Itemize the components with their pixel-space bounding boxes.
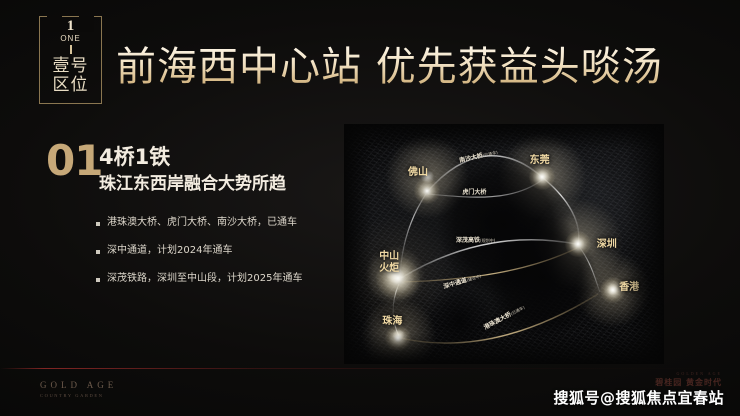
one-district-badge: 1 ONE 壹号 区位 [39, 16, 102, 104]
section-heading-sub: 珠江东西岸融合大势所趋 [99, 172, 329, 196]
map-edge-vignette [344, 124, 664, 364]
brand-subtitle: COUNTRY GARDEN [40, 392, 117, 400]
badge-notch-right [79, 16, 94, 32]
badge-divider-tick [70, 45, 72, 54]
brand-logo: GOLD AGE COUNTRY GARDEN [40, 380, 117, 400]
badge-word-one: ONE [60, 33, 80, 44]
section-heading-main: 4桥1铁 [99, 144, 329, 170]
section-heading-block: 4桥1铁 珠江东西岸融合大势所趋 [99, 144, 329, 196]
bullet-item: 深中通道，计划2024年通车 [96, 244, 341, 258]
section-number: 01 [46, 140, 102, 182]
bullet-text: 港珠澳大桥、虎门大桥、南沙大桥，已通车 [107, 216, 297, 230]
badge-notch-left [47, 16, 62, 32]
corner-brand-cn: 碧桂园 黄金时代 [655, 377, 722, 388]
regional-connectivity-map: 佛山东莞深圳香港中山火炬珠海 南沙大桥(已通车)虎门大桥深茂高铁(规划中)深中通… [344, 124, 664, 364]
bullet-square-icon [96, 278, 100, 282]
bullet-list: 港珠澳大桥、虎门大桥、南沙大桥，已通车深中通道，计划2024年通车深茂铁路，深圳… [96, 216, 341, 300]
footer-divider [0, 368, 740, 369]
badge-label-line2: 区位 [53, 76, 89, 95]
bullet-text: 深中通道，计划2024年通车 [107, 244, 232, 258]
brand-name: GOLD AGE [40, 380, 117, 391]
bullet-item: 深茂铁路，深圳至中山段，计划2025年通车 [96, 272, 341, 286]
corner-brand-mark: GOLDEN AGE 碧桂园 黄金时代 [655, 371, 722, 388]
bullet-text: 深茂铁路，深圳至中山段，计划2025年通车 [107, 272, 302, 286]
bullet-item: 港珠澳大桥、虎门大桥、南沙大桥，已通车 [96, 216, 341, 230]
badge-label-line1: 壹号 [53, 57, 89, 76]
badge-number: 1 [67, 20, 75, 33]
page-title: 前海西中心站 优先获益头啖汤 [116, 44, 663, 90]
watermark-text: 搜狐号@搜狐焦点宜春站 [553, 389, 724, 407]
bullet-square-icon [96, 250, 100, 254]
slide-canvas: 1 ONE 壹号 区位 前海西中心站 优先获益头啖汤 01 4桥1铁 珠江东西岸… [0, 0, 740, 416]
bullet-square-icon [96, 222, 100, 226]
